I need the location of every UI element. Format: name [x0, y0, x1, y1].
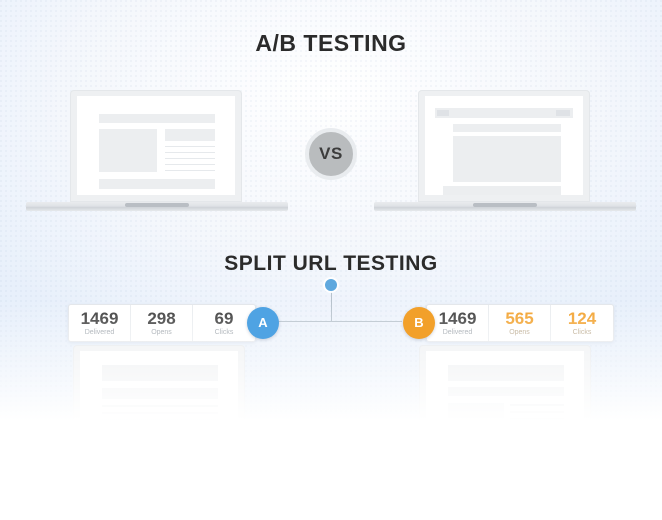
wireframe-header-bar [99, 114, 215, 123]
laptop-base-url2 [375, 457, 637, 466]
stat-value: 124 [553, 310, 611, 328]
variant-badge-b-label: B [414, 315, 423, 330]
wireframe-line [165, 164, 215, 165]
stat-cell-clicks-b: 124 Clicks [551, 305, 613, 341]
stat-value: 565 [491, 310, 548, 328]
wireframe-nav-bar [435, 108, 573, 118]
laptop-lid-b [418, 90, 590, 202]
connector-vertical-line [331, 288, 332, 322]
wireframe-side-block [165, 129, 215, 141]
wireframe-line [165, 146, 215, 147]
connector-split-dot [325, 279, 337, 291]
stat-cell-opens-a: 298 Opens [131, 305, 193, 341]
stat-label: Opens [133, 329, 190, 336]
wireframe-nav-button [556, 110, 570, 116]
wireframe-image-block [99, 129, 157, 172]
vs-label: VS [319, 144, 343, 164]
caption-website-url-1: (Website URL - 1) [59, 478, 259, 490]
stat-label: Delivered [71, 329, 128, 336]
stats-bar-variant-b: B 1469 Delivered 565 Opens 124 Clicks [403, 304, 614, 342]
wireframe-line [510, 425, 564, 427]
stat-cell-clicks-a: 69 Clicks [193, 305, 255, 341]
wireframe-header-block [102, 365, 218, 381]
stat-label: Clicks [553, 329, 611, 336]
stat-value: 1469 [429, 310, 486, 328]
laptop-screen-b [425, 96, 583, 195]
laptop-base-b [374, 202, 636, 211]
page-title-split-url-testing: SPLIT URL TESTING [0, 252, 662, 276]
stat-cell-delivered-a: 1469 Delivered [69, 305, 131, 341]
wireframe-logo [437, 110, 449, 116]
wireframe-header-block [448, 365, 564, 381]
stat-value: 1469 [71, 310, 128, 328]
wireframe-line [102, 426, 218, 428]
stats-bar-variant-a: 1469 Delivered 298 Opens 69 Clicks A [68, 304, 279, 342]
laptop-lid-a [70, 90, 242, 202]
stat-value: 69 [195, 310, 253, 328]
wireframe-subheader-block [102, 388, 218, 399]
wireframe-footer-block [102, 435, 218, 446]
wireframe-image-block [448, 403, 504, 429]
vs-badge: VS [305, 128, 357, 180]
laptop-screen-url1 [80, 351, 238, 450]
laptop-lid-url2 [419, 345, 591, 457]
wireframe-line [510, 411, 564, 413]
wireframe-hero-block [453, 136, 561, 182]
wireframe-line [102, 412, 218, 414]
infographic-canvas: A/B TESTING VS [0, 0, 662, 520]
stats-cells-b: 1469 Delivered 565 Opens 124 Clicks [426, 304, 614, 342]
stat-cell-delivered-b: 1469 Delivered [427, 305, 489, 341]
stat-label: Clicks [195, 329, 253, 336]
wireframe-subheader-block [448, 387, 564, 396]
variant-badge-a-label: A [258, 315, 267, 330]
wireframe-footer-bar [99, 179, 215, 189]
laptop-base-a [26, 202, 288, 211]
caption-website-url-2: (Website URL - 2) [405, 478, 605, 490]
page-title-ab-testing: A/B TESTING [0, 30, 662, 57]
wireframe-footer-block [448, 435, 564, 446]
laptop-screen-url2 [426, 351, 584, 450]
wireframe-line [165, 152, 215, 153]
stat-label: Opens [491, 329, 548, 336]
laptop-screen-a [77, 96, 235, 195]
wireframe-line [165, 158, 215, 159]
stat-value: 298 [133, 310, 190, 328]
variant-badge-b: B [403, 307, 435, 339]
wireframe-line [510, 418, 564, 420]
wireframe-line [102, 419, 218, 421]
stat-cell-opens-b: 565 Opens [489, 305, 551, 341]
laptop-lid-url1 [73, 345, 245, 457]
wireframe-subheader [453, 124, 561, 132]
wireframe-line [102, 405, 218, 407]
stat-label: Delivered [429, 329, 486, 336]
wireframe-line [510, 404, 564, 406]
connector-horizontal-line [262, 321, 402, 322]
laptop-base-url1 [29, 457, 291, 466]
wireframe-footer-bar [443, 186, 561, 195]
stats-cells-a: 1469 Delivered 298 Opens 69 Clicks [68, 304, 256, 342]
variant-badge-a: A [247, 307, 279, 339]
wireframe-line [165, 170, 215, 171]
